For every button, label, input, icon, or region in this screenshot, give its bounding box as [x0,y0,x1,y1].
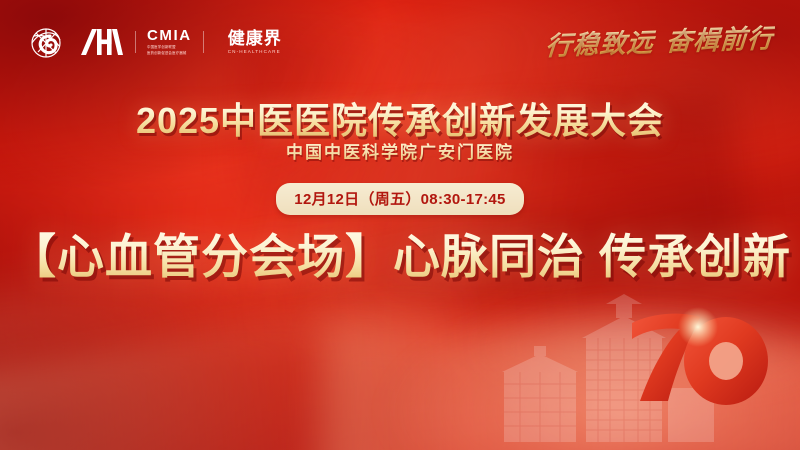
session-headline: 【心血管分会场】心脉同治传承创新 [0,218,800,287]
cn-healthcare-en: CN-HEALTHCARE [228,50,282,55]
page-subtitle: 中国中医科学院广安门医院 [0,138,800,163]
conference-poster: CMIA 中国医学创新联盟 医药创新促进会医疗器械 健康界 CN-HEALTHC… [0,0,800,450]
anniversary-70-graphic [622,305,772,410]
cmia-sub-line-2: 医药创新促进会医疗器械 [147,51,192,56]
calligraphy-left: 行稳致远 [544,28,654,61]
headline-slogan-a: 心脉同治 [393,230,585,283]
cn-healthcare-logo: 健康界 CN-HEALTHCARE [228,30,282,55]
calligraphy-right: 奋楫前行 [665,24,775,57]
cmia-mark-icon [80,26,124,58]
logo-divider [135,31,136,53]
guanganmen-hospital-logo-icon [26,24,70,60]
cn-healthcare-cn: 健康界 [228,30,282,47]
cmia-wordmark-primary: CMIA [147,28,192,43]
cmia-wordmark-sub: 中国医学创新联盟 医药创新促进会医疗器械 [147,45,192,56]
logo-bar: CMIA 中国医学创新联盟 医药创新促进会医疗器械 健康界 CN-HEALTHC… [26,24,282,60]
date-badge: 12月12日（周五）08:30-17:45 [276,183,523,215]
logo-divider-2 [203,31,204,53]
cmia-wordmark: CMIA 中国医学创新联盟 医药创新促进会医疗器械 [147,28,192,56]
date-badge-wrap: 12月12日（周五）08:30-17:45 [0,183,800,215]
headline-slogan-b: 传承创新 [599,230,791,283]
page-title: 2025中医医院传承创新发展大会 [0,92,800,144]
headline-bracketed: 【心血管分会场】 [9,230,393,283]
